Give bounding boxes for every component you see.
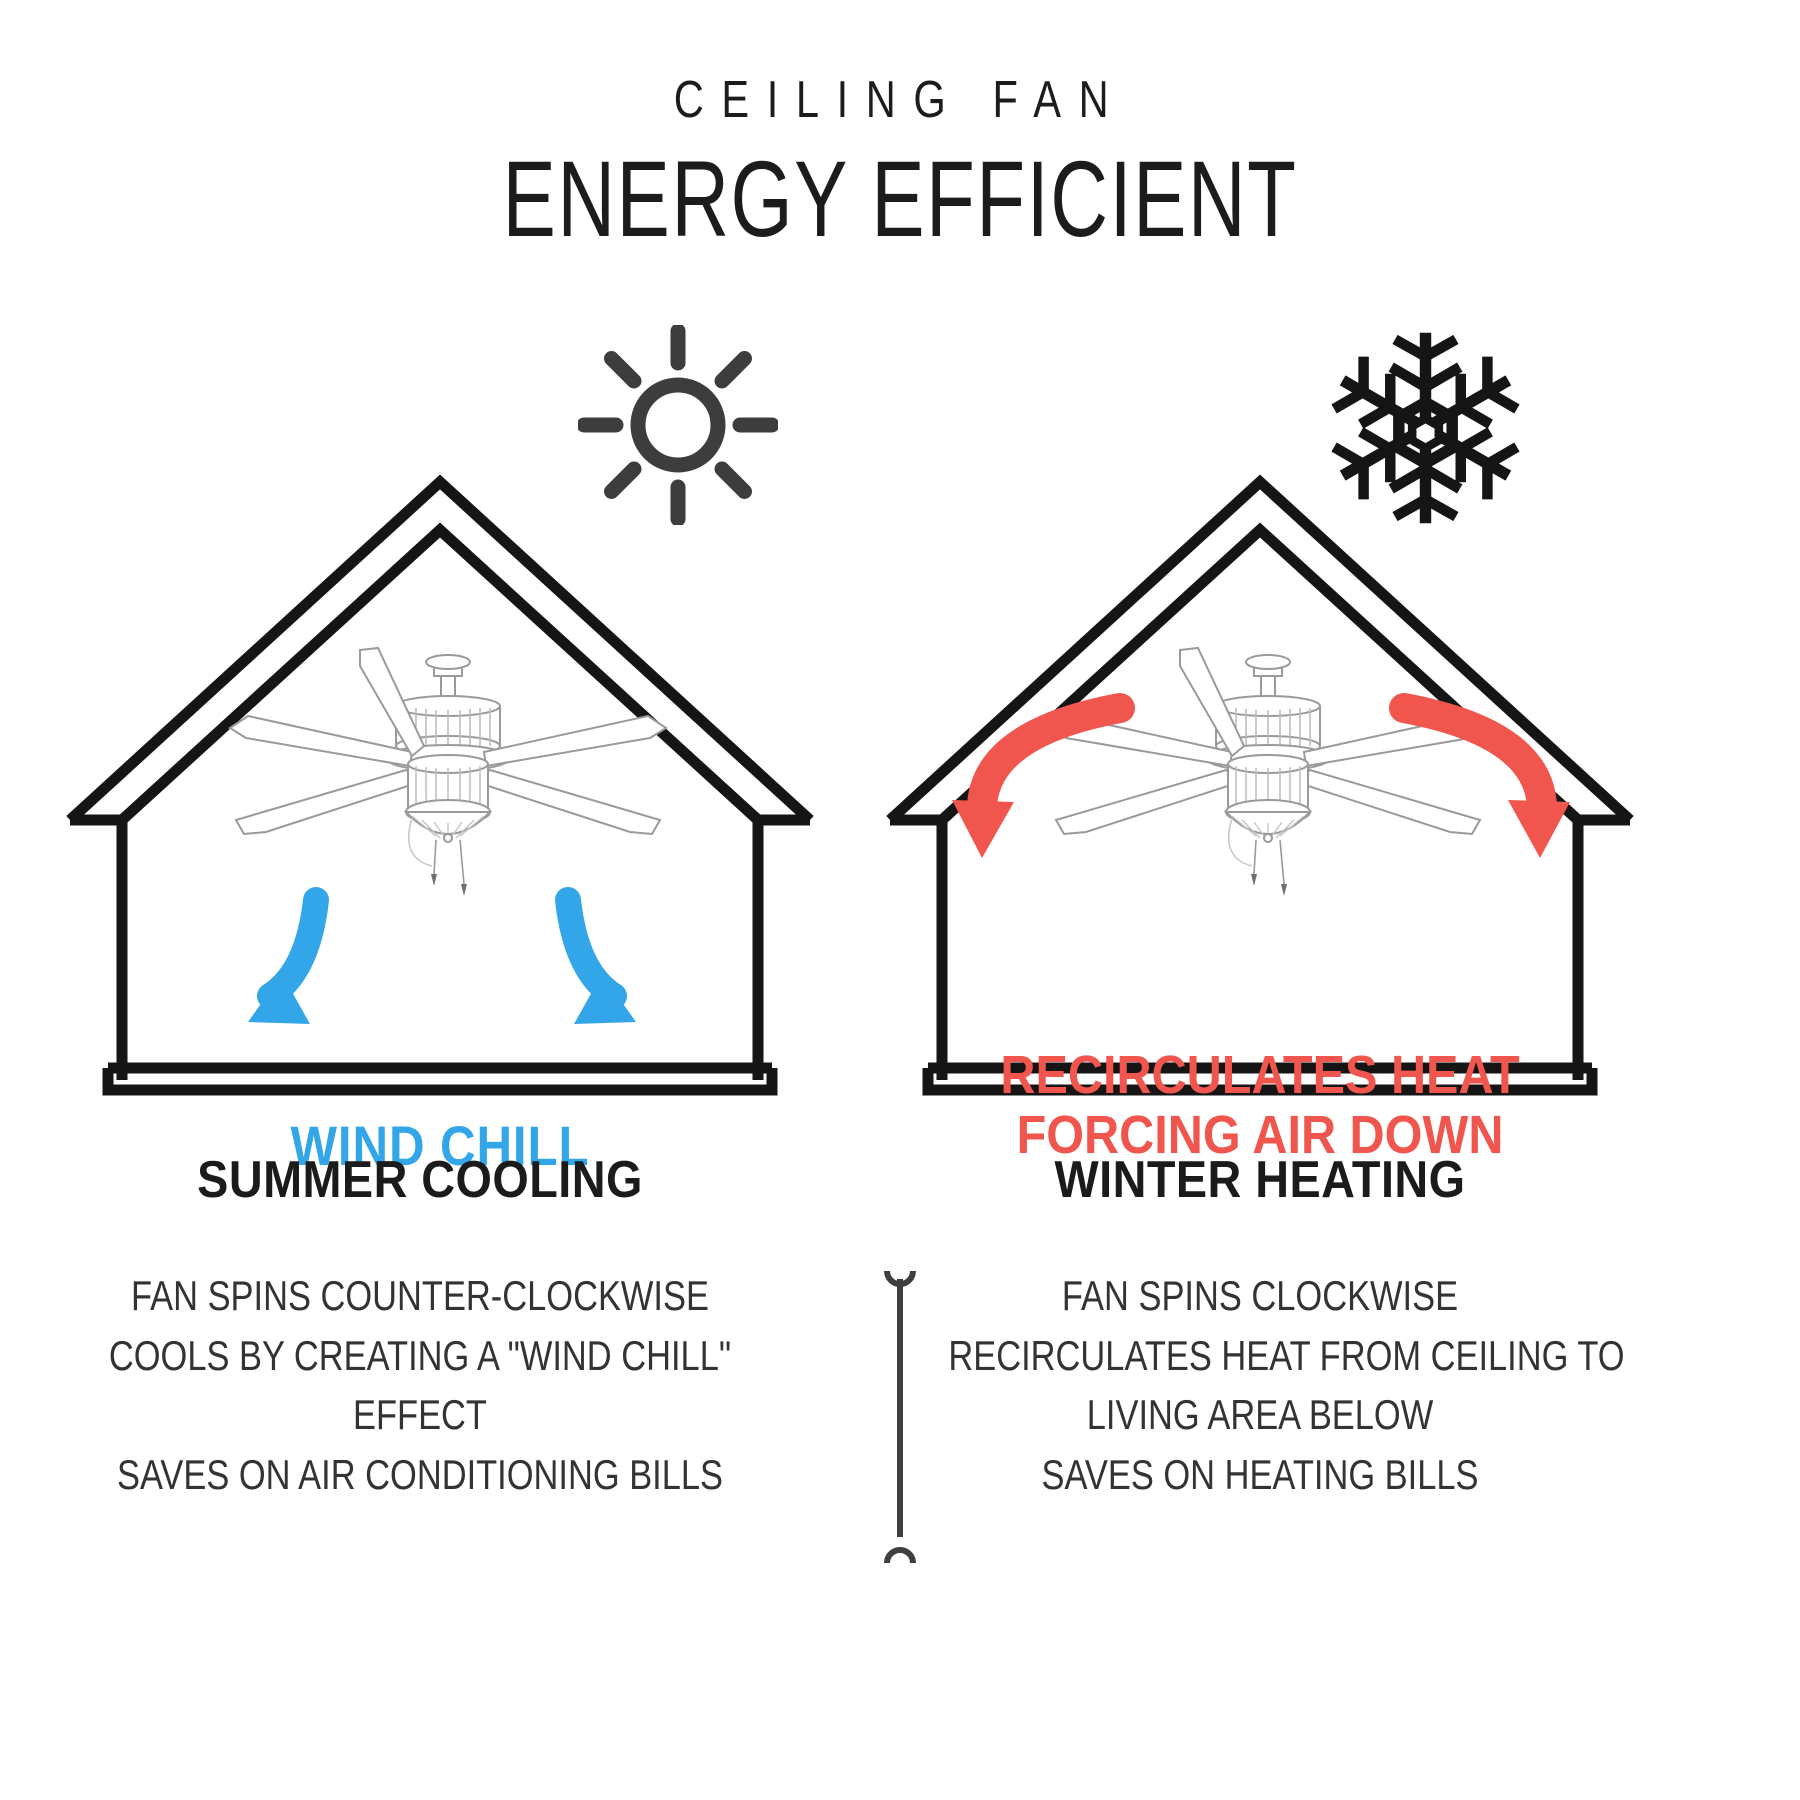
recirculates-heat-label: RECIRCULATES HEAT FORCING AIR DOWN <box>918 1045 1602 1166</box>
summer-title: SUMMER COOLING <box>78 1150 762 1210</box>
summer-body-line: COOLS BY CREATING A "WIND CHILL" <box>108 1326 731 1386</box>
winter-body: FAN SPINS CLOCKWISE RECIRCULATES HEAT FR… <box>948 1266 1571 1505</box>
panel-winter <box>880 470 1640 1110</box>
winter-title: WINTER HEATING <box>918 1150 1602 1210</box>
winter-body-line: LIVING AREA BELOW <box>948 1385 1571 1445</box>
infographic-canvas: CEILING FAN ENERGY EFFICIENT <box>0 0 1800 1800</box>
winter-body-line: SAVES ON HEATING BILLS <box>948 1445 1571 1505</box>
page-title: ENERGY EFFICIENT <box>234 140 1566 259</box>
ceiling-fan-drawing <box>1050 648 1486 896</box>
recirculates-heat-line1: RECIRCULATES HEAT <box>1000 1045 1519 1105</box>
eyebrow-title: CEILING FAN <box>180 70 1620 130</box>
winter-text-column: WINTER HEATING FAN SPINS CLOCKWISE RECIR… <box>880 1150 1640 1505</box>
summer-body-line: FAN SPINS COUNTER-CLOCKWISE <box>108 1266 731 1326</box>
winter-body-line: FAN SPINS CLOCKWISE <box>948 1266 1571 1326</box>
ceiling-fan-drawing <box>230 648 666 896</box>
summer-body-line: SAVES ON AIR CONDITIONING BILLS <box>108 1445 731 1505</box>
airflow-arrow-right <box>568 900 636 1024</box>
summer-body: FAN SPINS COUNTER-CLOCKWISE COOLS BY CRE… <box>108 1266 731 1505</box>
airflow-arrow-left <box>248 900 316 1024</box>
summer-text-column: SUMMER COOLING FAN SPINS COUNTER-CLOCKWI… <box>40 1150 800 1505</box>
summer-body-line: EFFECT <box>108 1385 731 1445</box>
winter-body-line: RECIRCULATES HEAT FROM CEILING TO <box>948 1326 1571 1386</box>
panel-summer <box>60 470 820 1110</box>
